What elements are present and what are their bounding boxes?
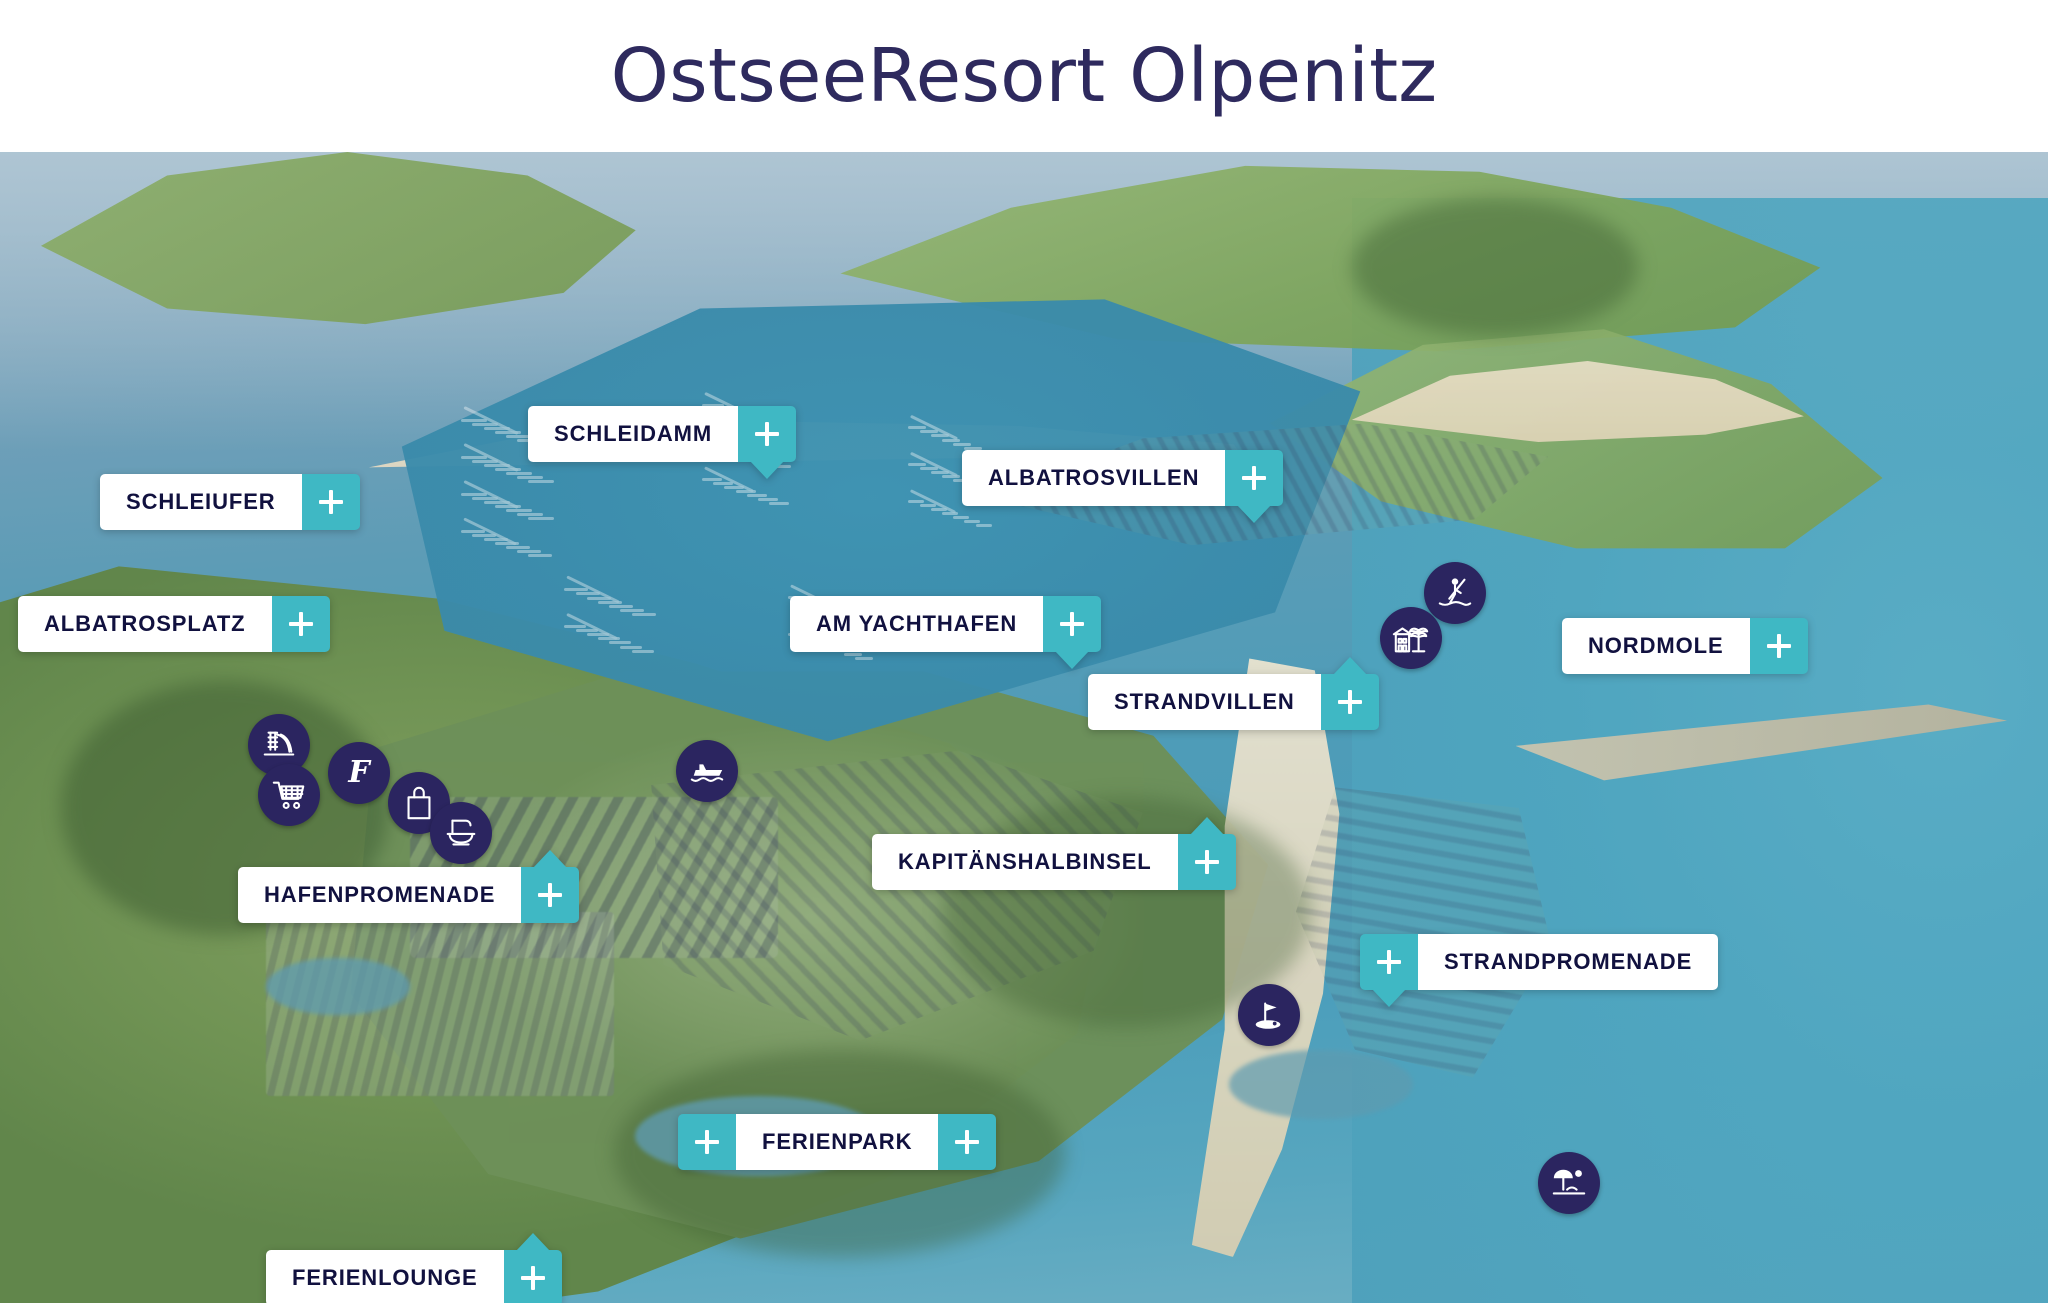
map-label-text: STRANDPROMENADE (1418, 934, 1718, 990)
map-label-text: FERIENLOUNGE (266, 1250, 504, 1303)
map-pointer-triangle (1055, 651, 1089, 669)
expand-plus-button[interactable] (1750, 618, 1808, 674)
golf-flag-icon[interactable] (1238, 984, 1300, 1046)
f-monogram-icon[interactable]: F (328, 742, 390, 804)
map-label-am-yachthafen[interactable]: AM YACHTHAFEN (790, 596, 1101, 652)
map-pointer-triangle (516, 1233, 550, 1251)
f-monogram-glyph: F (348, 758, 369, 788)
shopping-cart-icon[interactable] (258, 764, 320, 826)
map-label-text: HAFENPROMENADE (238, 867, 521, 923)
expand-plus-button[interactable] (504, 1250, 562, 1303)
map-label-text: ALBATROSVILLEN (962, 450, 1225, 506)
expand-plus-button[interactable] (678, 1114, 736, 1170)
expand-plus-button[interactable] (1043, 596, 1101, 652)
map-label-text: SCHLEIDAMM (528, 406, 738, 462)
expand-plus-button[interactable] (1321, 674, 1379, 730)
map-pointer-triangle (1372, 989, 1406, 1007)
page-header: OstseeResort Olpenitz (0, 0, 2048, 152)
map-label-schleidamm[interactable]: SCHLEIDAMM (528, 406, 796, 462)
paddleboard-icon[interactable] (1424, 562, 1486, 624)
expand-plus-button[interactable] (738, 406, 796, 462)
map-label-strandpromenade[interactable]: STRANDPROMENADE (1360, 934, 1718, 990)
map-label-kapitaenshalbinsel[interactable]: KAPITÄNSHALBINSEL (872, 834, 1236, 890)
map-label-ferienpark[interactable]: FERIENPARK (678, 1114, 996, 1170)
map-pointer-triangle (533, 850, 567, 868)
map-label-text: AM YACHTHAFEN (790, 596, 1043, 652)
inland-lagoon (266, 958, 409, 1016)
expand-plus-button[interactable] (1360, 934, 1418, 990)
map-label-text: ALBATROSPLATZ (18, 596, 272, 652)
resort-map-page: OstseeResort Olpenitz (0, 0, 2048, 1303)
map-pointer-triangle (1237, 505, 1271, 523)
expand-plus-button[interactable] (521, 867, 579, 923)
map-label-schleiufer[interactable]: SCHLEIUFER (100, 474, 360, 530)
resort-building-icon[interactable] (1380, 607, 1442, 669)
map-pointer-triangle (1333, 657, 1367, 675)
map-pointer-triangle (1190, 817, 1224, 835)
motorboat-icon[interactable] (676, 740, 738, 802)
map-label-ferienlounge[interactable]: FERIENLOUNGE (266, 1250, 562, 1303)
inland-lagoon (1229, 1050, 1413, 1119)
expand-plus-button[interactable] (272, 596, 330, 652)
map-label-text: STRANDVILLEN (1088, 674, 1321, 730)
map-pointer-triangle (750, 461, 784, 479)
resort-map-canvas[interactable]: SCHLEIDAMMSCHLEIUFERALBATROSVILLENALBATR… (0, 152, 2048, 1303)
map-label-albatrosplatz[interactable]: ALBATROSPLATZ (18, 596, 330, 652)
expand-plus-button[interactable] (938, 1114, 996, 1170)
page-title: OstseeResort Olpenitz (611, 33, 1438, 119)
expand-plus-button[interactable] (1178, 834, 1236, 890)
expand-plus-button[interactable] (302, 474, 360, 530)
map-label-text: NORDMOLE (1562, 618, 1750, 674)
map-label-nordmole[interactable]: NORDMOLE (1562, 618, 1808, 674)
aerial-map-illustration (0, 152, 2048, 1303)
vegetation-patch (1352, 198, 1639, 336)
map-label-hafenpromenade[interactable]: HAFENPROMENADE (238, 867, 579, 923)
beach-parasol-icon[interactable] (1538, 1152, 1600, 1214)
map-label-strandvillen[interactable]: STRANDVILLEN (1088, 674, 1379, 730)
map-label-text: SCHLEIUFER (100, 474, 302, 530)
map-label-text: FERIENPARK (736, 1114, 938, 1170)
map-label-albatrosvillen[interactable]: ALBATROSVILLEN (962, 450, 1283, 506)
wellness-spa-icon[interactable] (430, 802, 492, 864)
expand-plus-button[interactable] (1225, 450, 1283, 506)
map-label-text: KAPITÄNSHALBINSEL (872, 834, 1178, 890)
